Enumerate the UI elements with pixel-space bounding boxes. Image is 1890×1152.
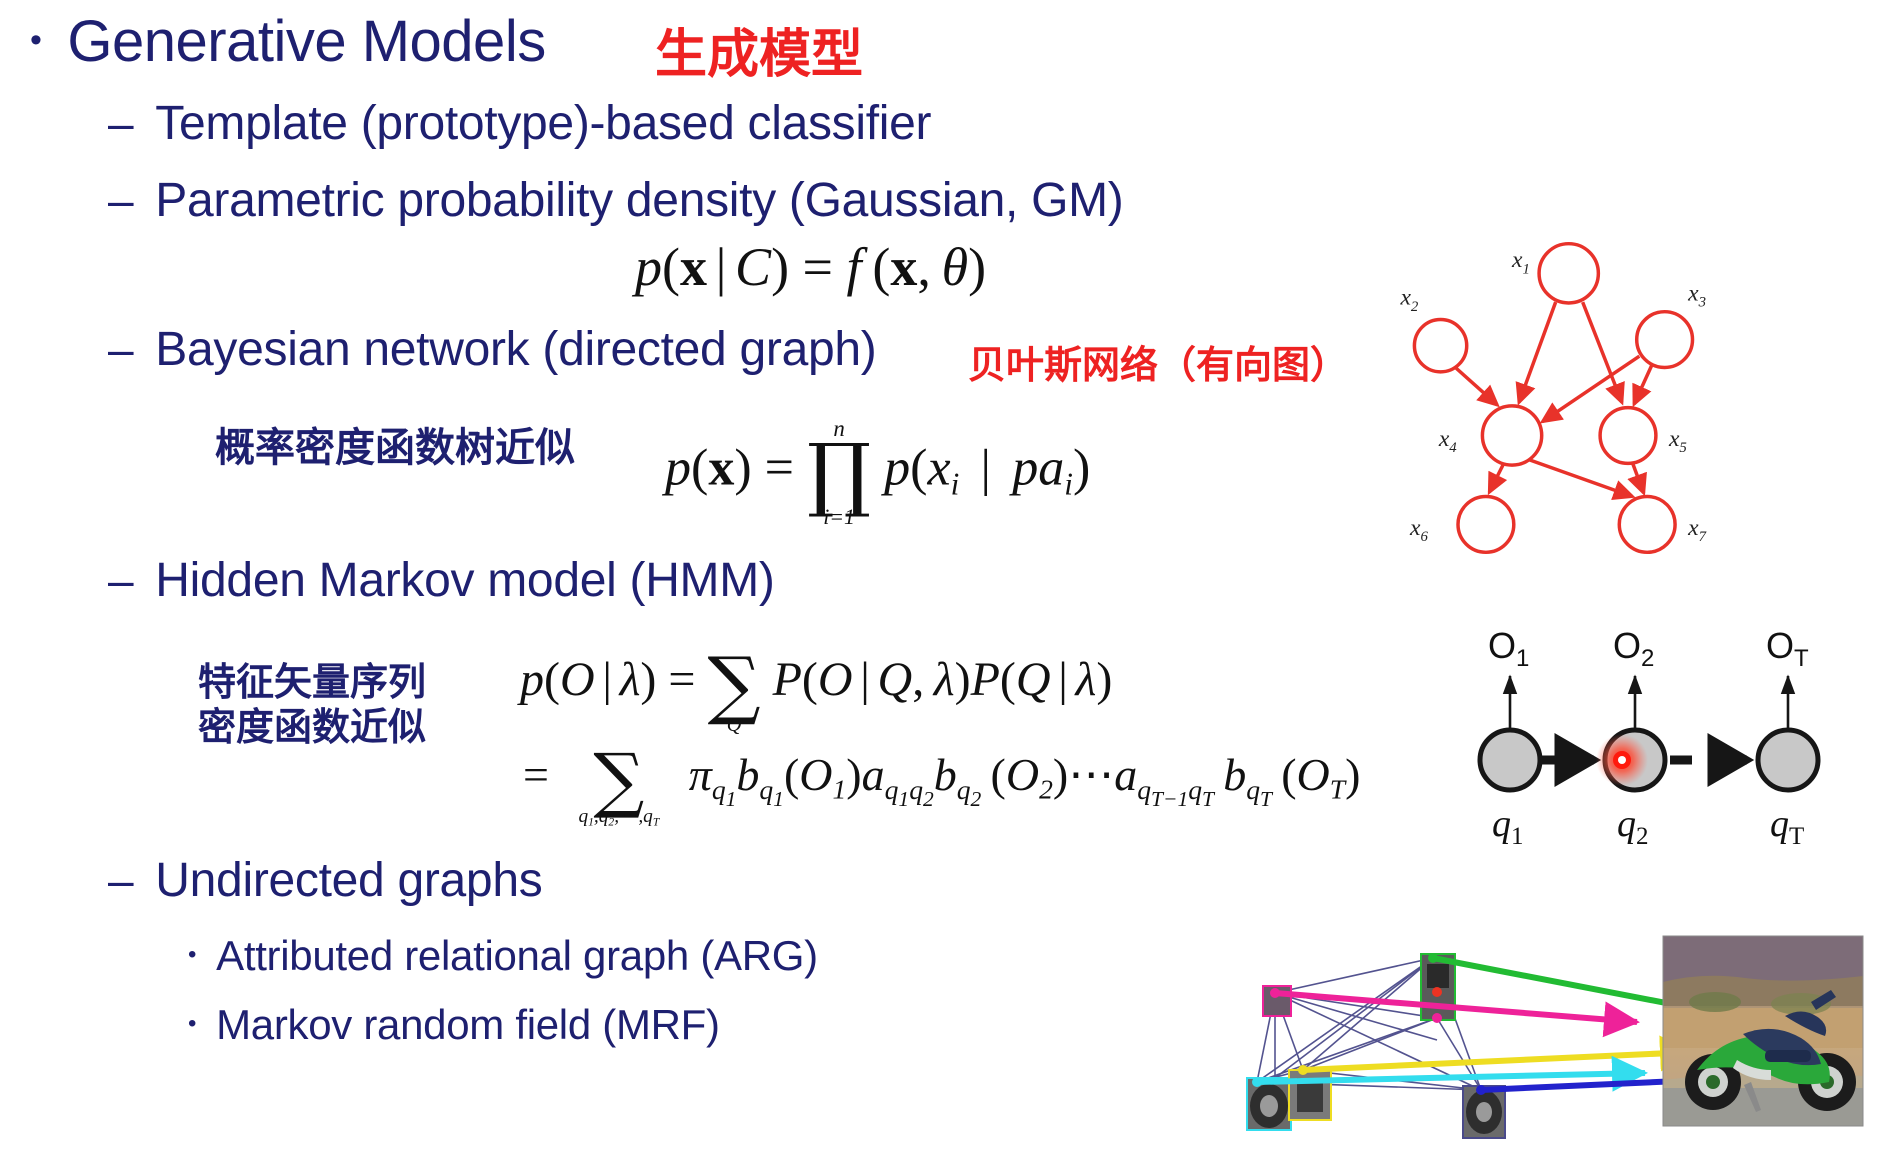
slide-canvas: • Generative Models 生成模型 – Template (pro…: [0, 0, 1890, 1152]
bayes-label-x1: x1: [1511, 247, 1530, 277]
bayes-label-x3: x3: [1687, 280, 1706, 310]
dash-glyph: –: [108, 553, 133, 607]
bayesian-network-annotation-cn: 贝叶斯网络（有向图）: [968, 334, 1348, 389]
hmm-state-qT: [1758, 730, 1818, 790]
sub-list-item-label: Attributed relational graph (ARG): [216, 932, 818, 980]
hmm-state-label-q2: q2: [1617, 803, 1649, 848]
hmm-state-highlight-core: [1618, 756, 1626, 764]
feature-sequence-annotation-cn: 特征矢量序列 密度函数近似: [198, 660, 426, 750]
bayes-node-x5: [1600, 408, 1656, 464]
hmm-obs-label-OT: OT: [1766, 625, 1809, 672]
bayes-edges: [1455, 302, 1651, 496]
annotation-line-2: 密度函数近似: [198, 705, 426, 750]
equation-gaussian-density: p(x|C) = f (x, θ): [635, 236, 986, 298]
bayesian-network-svg: x1 x2 x3 x4 x5 x6 x7: [1355, 228, 1765, 568]
list-item-template-classifier: – Template (prototype)-based classifier: [108, 96, 931, 151]
arg-matching-svg: [1245, 930, 1875, 1142]
list-item-label: Template (prototype)-based classifier: [155, 96, 931, 151]
hmm-chain-figure: O1 O2 OT q1 q2 qT: [1470, 608, 1840, 848]
title-annotation-cn: 生成模型: [655, 12, 863, 87]
bayes-node-x3: [1637, 312, 1693, 368]
hmm-obs-label-O1: O1: [1488, 625, 1529, 672]
list-item-label: Hidden Markov model (HMM): [155, 553, 774, 608]
sub-list-item-arg: • Attributed relational graph (ARG): [188, 932, 818, 980]
list-item-label: Undirected graphs: [155, 853, 542, 908]
hmm-state-q1: [1480, 730, 1540, 790]
product-operator: n ∏ i=1: [807, 418, 871, 527]
hmm-observation-labels: O1 O2 OT: [1488, 625, 1809, 672]
bayes-node-x2: [1414, 320, 1466, 372]
annotation-line-1: 特征矢量序列: [198, 660, 426, 705]
equation-hmm-line2: = ∑ q1,q2,⋯,qT πq1bq1(O1)aq1q2bq2 (O2)⋯a…: [523, 730, 1360, 829]
bayesian-network-figure: x1 x2 x3 x4 x5 x6 x7: [1355, 228, 1765, 568]
bullet-glyph: •: [188, 941, 196, 969]
bayes-node-x1: [1539, 244, 1598, 303]
hmm-state-label-q1: q1: [1492, 803, 1524, 848]
list-item-label: Parametric probability density (Gaussian…: [155, 173, 1123, 228]
dash-glyph: –: [108, 96, 133, 150]
hmm-obs-label-O2: O2: [1613, 625, 1654, 672]
list-item-parametric-density: – Parametric probability density (Gaussi…: [108, 173, 1123, 228]
tree-approximation-annotation-cn: 概率密度函数树近似: [215, 425, 575, 472]
dash-glyph: –: [108, 173, 133, 227]
list-item-bayesian-network: – Bayesian network (directed graph): [108, 322, 876, 377]
dash-glyph: –: [108, 853, 133, 907]
page-title: Generative Models: [67, 8, 545, 75]
bayes-label-x6: x6: [1409, 515, 1428, 545]
slide-title-row: • Generative Models: [30, 8, 546, 75]
hmm-observation-arrows: [1510, 676, 1788, 736]
hmm-state-label-qT: qT: [1770, 803, 1804, 848]
hmm-state-labels: q1 q2 qT: [1492, 803, 1804, 848]
list-item-hidden-markov-model: – Hidden Markov model (HMM): [108, 553, 775, 608]
equation-bayes-factorization: p(x) = n ∏ i=1 p(xi | pai): [665, 418, 1090, 527]
bayes-label-x7: x7: [1687, 515, 1706, 545]
bullet-glyph: •: [188, 1010, 196, 1038]
bayes-node-x6: [1458, 497, 1514, 553]
equation-hmm-line1: p(O|λ) = ∑ Q P(O|Q, λ)P(Q|λ): [520, 634, 1112, 734]
arg-matching-figure: [1245, 930, 1875, 1142]
dash-glyph: –: [108, 322, 133, 376]
bullet-glyph: •: [30, 23, 41, 57]
bayes-label-x2: x2: [1399, 285, 1418, 315]
sub-list-item-mrf: • Markov random field (MRF): [188, 1001, 720, 1049]
bayes-label-x5: x5: [1668, 426, 1687, 456]
motorcycle-photo: [1663, 936, 1863, 1126]
bayes-node-x7: [1619, 497, 1675, 553]
bayes-node-x4: [1482, 406, 1541, 465]
list-item-label: Bayesian network (directed graph): [155, 322, 876, 377]
bayes-nodes: [1414, 244, 1692, 553]
sum-operator: ∑ Q: [707, 634, 760, 734]
arg-part-patches: [1247, 954, 1505, 1138]
hmm-chain-svg: O1 O2 OT q1 q2 qT: [1470, 608, 1840, 848]
bayes-label-x4: x4: [1438, 426, 1457, 456]
sub-list-item-label: Markov random field (MRF): [216, 1001, 720, 1049]
list-item-undirected-graphs: – Undirected graphs: [108, 853, 542, 908]
sum-operator-sequences: ∑ q1,q2,⋯,qT: [578, 730, 659, 829]
